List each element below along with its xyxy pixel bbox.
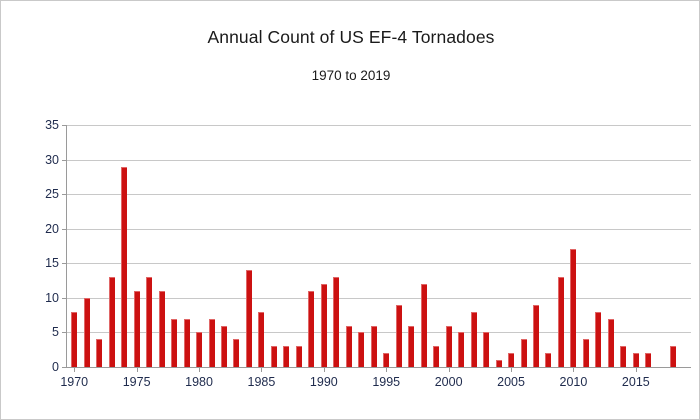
bar — [371, 326, 377, 367]
bar — [209, 319, 215, 367]
bar — [583, 339, 589, 367]
bar — [433, 346, 439, 367]
bar — [96, 339, 102, 367]
bar — [421, 284, 427, 367]
bar — [458, 332, 464, 367]
bar — [121, 167, 127, 368]
bar — [558, 277, 564, 367]
chart-figure: Annual Count of US EF-4 Tornadoes 1970 t… — [0, 0, 700, 420]
bar — [171, 319, 177, 367]
bar — [246, 270, 252, 367]
x-tick-label: 1980 — [185, 375, 213, 389]
bar — [134, 291, 140, 367]
bar — [533, 305, 539, 367]
x-tick-label: 2005 — [497, 375, 525, 389]
y-tick-mark — [62, 263, 67, 264]
bar — [159, 291, 165, 367]
gridline — [67, 160, 691, 161]
bar — [670, 346, 676, 367]
bar — [258, 312, 264, 367]
x-tick-label: 2015 — [622, 375, 650, 389]
y-tick-mark — [62, 125, 67, 126]
x-tick-mark — [137, 367, 138, 372]
x-tick-mark — [573, 367, 574, 372]
y-tick-label: 5 — [21, 326, 59, 339]
y-tick-mark — [62, 367, 67, 368]
bar — [196, 332, 202, 367]
x-tick-mark — [636, 367, 637, 372]
x-tick-mark — [449, 367, 450, 372]
bar — [383, 353, 389, 367]
bar — [84, 298, 90, 367]
x-tick-label: 1985 — [248, 375, 276, 389]
bar — [446, 326, 452, 367]
chart-title: Annual Count of US EF-4 Tornadoes — [1, 27, 700, 48]
bar — [296, 346, 302, 367]
bar — [358, 332, 364, 367]
y-tick-label: 25 — [21, 188, 59, 201]
plot-area: 05101520253035 1970197519801985199019952… — [67, 125, 691, 367]
bar — [608, 319, 614, 367]
x-tick-mark — [261, 367, 262, 372]
x-tick-mark — [199, 367, 200, 372]
bar — [221, 326, 227, 367]
gridline — [67, 367, 691, 368]
gridline — [67, 125, 691, 126]
y-tick-label: 20 — [21, 223, 59, 236]
bar — [71, 312, 77, 367]
bar — [146, 277, 152, 367]
bar — [545, 353, 551, 367]
bar — [233, 339, 239, 367]
x-tick-mark — [511, 367, 512, 372]
x-tick-label: 2010 — [560, 375, 588, 389]
y-tick-mark — [62, 298, 67, 299]
bar — [645, 353, 651, 367]
y-tick-mark — [62, 194, 67, 195]
bar — [408, 326, 414, 367]
bar — [109, 277, 115, 367]
x-tick-label: 1975 — [123, 375, 151, 389]
gridline — [67, 263, 691, 264]
bar — [521, 339, 527, 367]
bar — [620, 346, 626, 367]
y-axis-line — [66, 125, 67, 367]
bar — [321, 284, 327, 367]
y-tick-label: 35 — [21, 119, 59, 132]
bar — [283, 346, 289, 367]
chart-subtitle: 1970 to 2019 — [1, 68, 700, 83]
bar — [471, 312, 477, 367]
bar — [346, 326, 352, 367]
bar — [308, 291, 314, 367]
bar — [271, 346, 277, 367]
y-tick-mark — [62, 160, 67, 161]
bar — [508, 353, 514, 367]
y-tick-label: 0 — [21, 361, 59, 374]
x-tick-label: 2000 — [435, 375, 463, 389]
x-tick-mark — [324, 367, 325, 372]
bar — [396, 305, 402, 367]
bar — [483, 332, 489, 367]
bar — [595, 312, 601, 367]
bar — [184, 319, 190, 367]
bar — [633, 353, 639, 367]
bar — [496, 360, 502, 367]
x-tick-label: 1970 — [60, 375, 88, 389]
gridline — [67, 229, 691, 230]
x-tick-mark — [74, 367, 75, 372]
gridline — [67, 194, 691, 195]
y-tick-label: 15 — [21, 257, 59, 270]
bar — [570, 249, 576, 367]
y-tick-label: 30 — [21, 154, 59, 167]
bar — [333, 277, 339, 367]
x-tick-mark — [386, 367, 387, 372]
x-tick-label: 1995 — [372, 375, 400, 389]
x-tick-label: 1990 — [310, 375, 338, 389]
y-tick-label: 10 — [21, 292, 59, 305]
y-tick-mark — [62, 229, 67, 230]
y-tick-mark — [62, 332, 67, 333]
